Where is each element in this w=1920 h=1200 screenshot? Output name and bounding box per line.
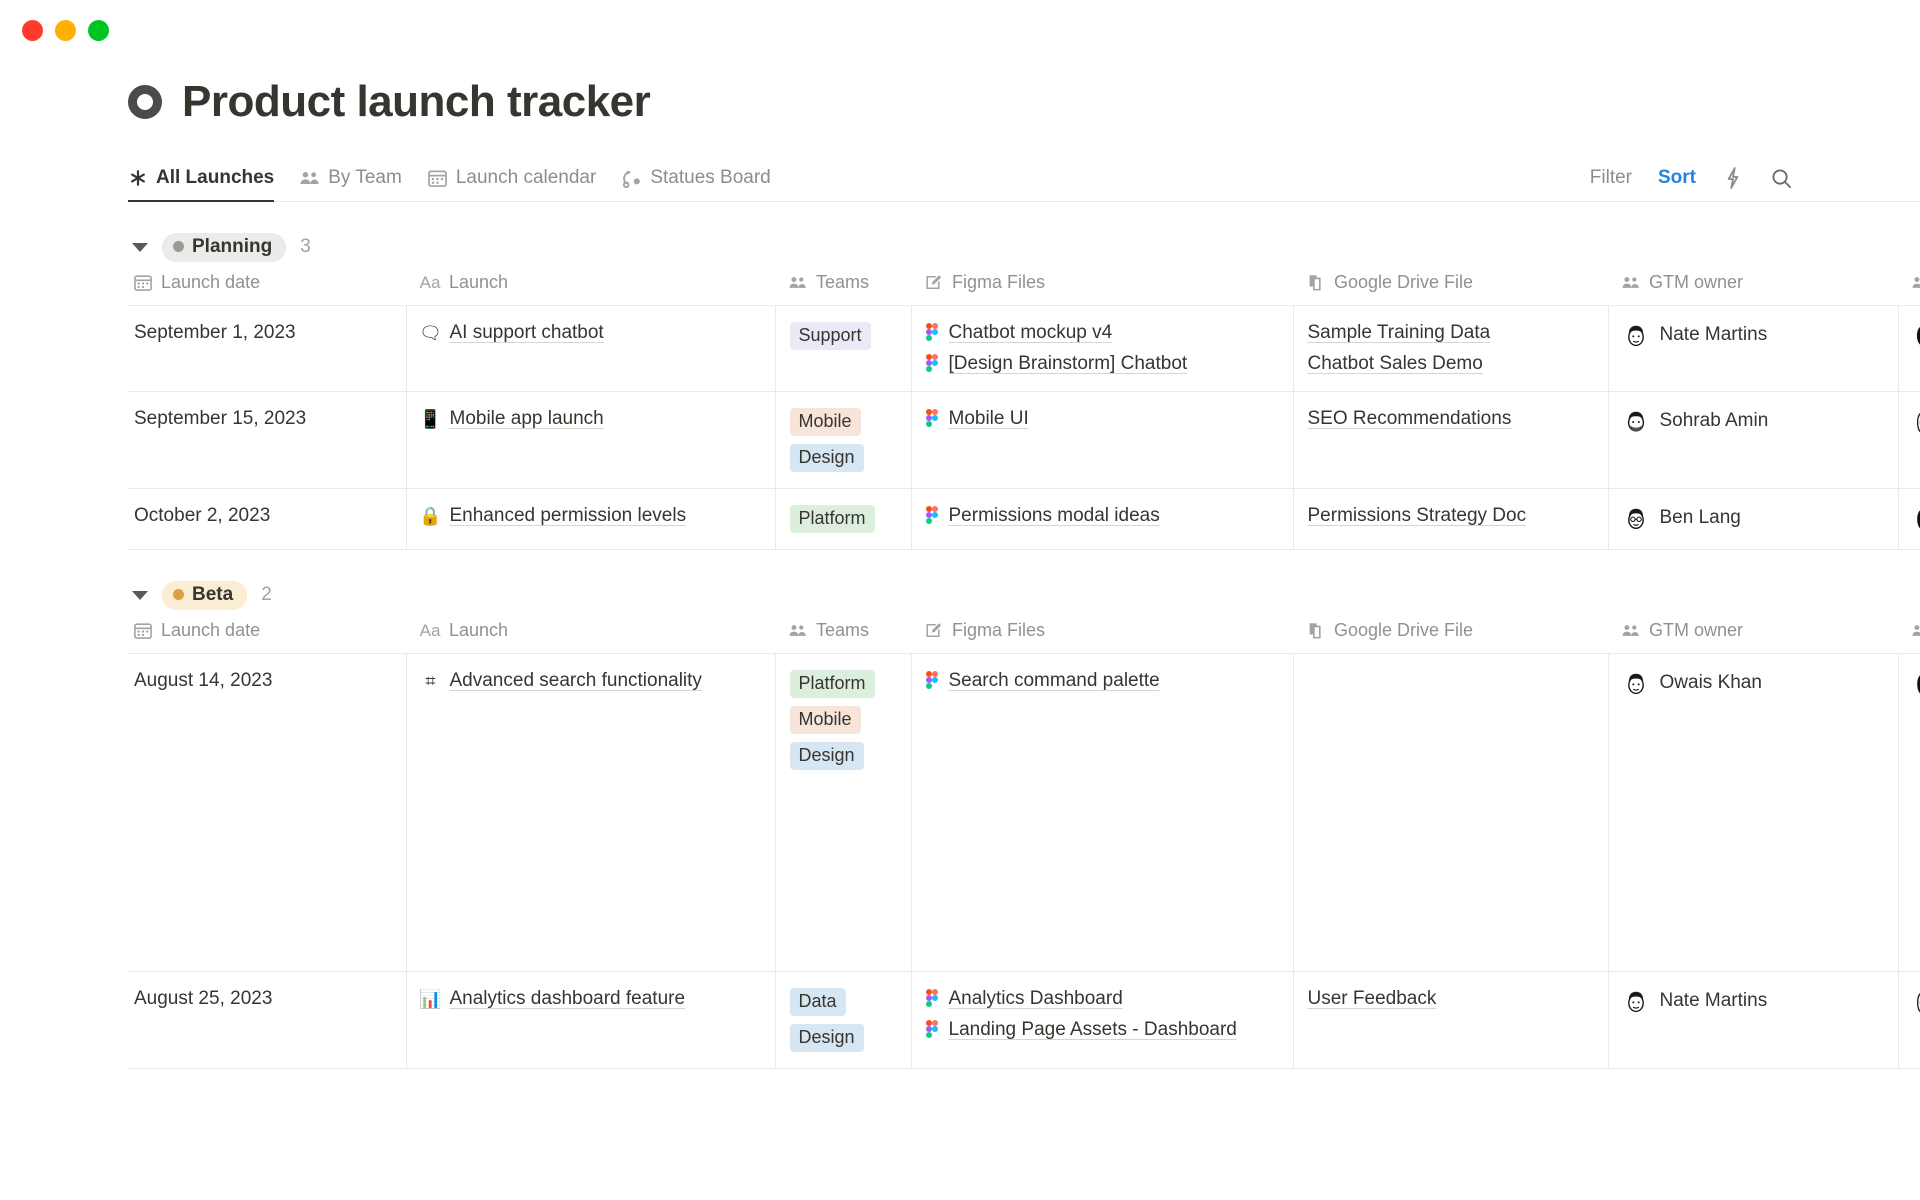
tab-label: All Launches (156, 167, 274, 189)
launch-table: Launch date AaLaunch Teams Figma Files G… (128, 612, 1920, 1069)
figma-file-name: Search command palette (949, 670, 1160, 692)
tab-launch-calendar[interactable]: Launch calendar (428, 167, 597, 201)
cell-teams[interactable]: MobileDesign (775, 392, 911, 489)
cell-extra-person[interactable] (1898, 654, 1920, 972)
table-header-row: Launch date AaLaunch Teams Figma Files G… (128, 264, 1920, 306)
cell-gtm-owner[interactable]: Nate Martins (1608, 972, 1898, 1069)
cell-figma-files[interactable]: Chatbot mockup v4 [Design Brainstorm] Ch… (911, 306, 1293, 392)
figma-file-name: Permissions modal ideas (949, 505, 1160, 527)
cell-teams[interactable]: DataDesign (775, 972, 911, 1069)
launch-emoji-icon: 📱 (421, 410, 441, 428)
table-row[interactable]: August 14, 2023 ⌗ Advanced search functi… (128, 654, 1920, 972)
avatar (1623, 505, 1649, 531)
person-chip[interactable] (1913, 988, 1920, 1014)
filter-button[interactable]: Filter (1590, 167, 1632, 189)
calendar-icon (428, 168, 448, 188)
status-badge[interactable]: Planning (162, 233, 286, 262)
launch-link[interactable]: 🔒 Enhanced permission levels (421, 505, 687, 527)
avatar (1913, 408, 1920, 434)
person-chip[interactable]: Nate Martins (1623, 988, 1884, 1014)
group-planning: Planning 3 Launch date AaLaunch Teams Fi… (128, 230, 1920, 550)
team-tag[interactable]: Platform (790, 670, 875, 698)
avatar (1623, 988, 1649, 1014)
launch-emoji-icon: 🔒 (421, 507, 441, 525)
tab-label: By Team (328, 167, 402, 189)
column-header-launch[interactable]: AaLaunch (406, 264, 775, 306)
figma-file-link[interactable]: Analytics Dashboard (926, 988, 1279, 1010)
person-chip[interactable] (1913, 670, 1920, 696)
team-tag[interactable]: Data (790, 988, 846, 1016)
people-icon (1622, 622, 1640, 639)
cell-google-drive-file[interactable]: SEO Recommendations (1293, 392, 1608, 489)
table-row[interactable]: October 2, 2023 🔒 Enhanced permission le… (128, 489, 1920, 550)
launch-title: AI support chatbot (450, 322, 604, 344)
column-header-label: Figma Files (952, 620, 1045, 641)
cell-figma-files[interactable]: Search command palette (911, 654, 1293, 972)
cell-extra-person[interactable] (1898, 306, 1920, 392)
record-circle-icon (128, 85, 162, 119)
people-icon (1622, 274, 1640, 291)
launch-date-value: August 25, 2023 (134, 988, 272, 1009)
collapse-caret-icon[interactable] (132, 591, 148, 600)
column-header-label: Teams (816, 272, 869, 293)
tab-label: Launch calendar (456, 167, 597, 189)
drive-file-link[interactable]: Permissions Strategy Doc (1308, 505, 1594, 527)
column-header-label: Teams (816, 620, 869, 641)
cell-launch-date[interactable]: August 14, 2023 (128, 654, 406, 972)
avatar (1623, 670, 1649, 696)
edit-square-icon (925, 622, 943, 639)
avatar (1913, 988, 1920, 1014)
group-beta: Beta 2 Launch date AaLaunch Teams Figma … (128, 578, 1920, 1069)
gtm-owner-name: Ben Lang (1660, 507, 1741, 529)
group-header[interactable]: Planning 3 (128, 230, 1920, 264)
column-header-figma-files[interactable]: Figma Files (911, 612, 1293, 654)
figma-icon (926, 323, 940, 343)
cell-extra-person[interactable] (1898, 392, 1920, 489)
table-row[interactable]: August 25, 2023 📊 Analytics dashboard fe… (128, 972, 1920, 1069)
column-header-label: Launch date (161, 620, 260, 641)
column-header-google-drive-file[interactable]: Google Drive File (1293, 612, 1608, 654)
figma-file-name: Mobile UI (949, 408, 1029, 430)
cell-figma-files[interactable]: Analytics Dashboard Landing Page Assets … (911, 972, 1293, 1069)
figma-icon (926, 354, 940, 374)
column-header-label: Google Drive File (1334, 620, 1473, 641)
launch-title: Mobile app launch (450, 408, 604, 430)
cell-gtm-owner[interactable]: Nate Martins (1608, 306, 1898, 392)
figma-icon (926, 506, 940, 526)
avatar (1623, 408, 1649, 434)
page-body: Product launch tracker All Launches (0, 78, 1920, 1069)
figma-file-name: Landing Page Assets - Dashboard (949, 1019, 1237, 1041)
figma-icon (926, 1020, 940, 1040)
avatar (1913, 505, 1920, 531)
launch-emoji-icon: ⌗ (421, 672, 441, 690)
status-badge-label: Beta (192, 584, 233, 606)
launch-title: Analytics dashboard feature (450, 988, 686, 1010)
status-badge[interactable]: Beta (162, 581, 247, 610)
people-icon (789, 622, 807, 639)
column-header-p[interactable]: P (1898, 264, 1920, 306)
team-tag[interactable]: Design (790, 444, 864, 472)
column-header-label: Figma Files (952, 272, 1045, 293)
launch-title: Enhanced permission levels (450, 505, 687, 527)
column-header-label: GTM owner (1649, 272, 1743, 293)
launch-title: Advanced search functionality (450, 670, 702, 692)
column-header-launch[interactable]: AaLaunch (406, 612, 775, 654)
column-header-google-drive-file[interactable]: Google Drive File (1293, 264, 1608, 306)
person-chip[interactable] (1913, 408, 1920, 434)
cell-teams[interactable]: PlatformMobileDesign (775, 654, 911, 972)
window-maximize-button[interactable] (88, 20, 109, 41)
people-icon (1912, 274, 1920, 291)
column-header-figma-files[interactable]: Figma Files (911, 264, 1293, 306)
team-tag[interactable]: Design (790, 1024, 864, 1052)
cell-figma-files[interactable]: Mobile UI (911, 392, 1293, 489)
avatar (1623, 322, 1649, 348)
gtm-owner-name: Nate Martins (1660, 324, 1768, 346)
page-header: Product launch tracker (128, 78, 1920, 126)
figma-file-name: Analytics Dashboard (949, 988, 1123, 1010)
figma-file-link[interactable]: Mobile UI (926, 408, 1279, 430)
lightning-icon[interactable] (1722, 167, 1744, 189)
edit-square-icon (925, 274, 943, 291)
text-aa-icon: Aa (420, 621, 440, 641)
avatar (1913, 670, 1920, 696)
groups-container: Planning 3 Launch date AaLaunch Teams Fi… (128, 230, 1920, 1069)
cell-gtm-owner[interactable]: Sohrab Amin (1608, 392, 1898, 489)
person-chip[interactable]: Owais Khan (1623, 670, 1884, 696)
figma-file-link[interactable]: Search command palette (926, 670, 1279, 692)
asterisk-icon (128, 168, 148, 188)
gtm-owner-name: Nate Martins (1660, 990, 1768, 1012)
window-titlebar (0, 0, 1920, 60)
column-header-p[interactable]: P (1898, 612, 1920, 654)
cell-google-drive-file[interactable]: Permissions Strategy Doc (1293, 489, 1608, 550)
column-header-launch-date[interactable]: Launch date (128, 264, 406, 306)
person-chip[interactable] (1913, 322, 1920, 348)
cell-google-drive-file[interactable]: User Feedback (1293, 972, 1608, 1069)
cell-launch[interactable]: 🗨 AI support chatbot (406, 306, 775, 392)
launch-link[interactable]: 📱 Mobile app launch (421, 408, 604, 430)
drive-file-link[interactable]: SEO Recommendations (1308, 408, 1594, 430)
tab-by-team[interactable]: By Team (300, 167, 402, 201)
cell-launch-date[interactable]: August 25, 2023 (128, 972, 406, 1069)
team-tag[interactable]: Mobile (790, 408, 861, 436)
gtm-owner-name: Owais Khan (1660, 672, 1762, 694)
figma-icon (926, 989, 940, 1009)
status-badge-label: Planning (192, 236, 272, 258)
launch-table: Launch date AaLaunch Teams Figma Files G… (128, 264, 1920, 550)
text-aa-icon: Aa (420, 273, 440, 293)
launch-link[interactable]: 🗨 AI support chatbot (421, 322, 604, 344)
status-dot-icon (173, 241, 184, 252)
launch-date-value: October 2, 2023 (134, 505, 270, 526)
cell-gtm-owner[interactable]: Owais Khan (1608, 654, 1898, 972)
cell-launch[interactable]: 📱 Mobile app launch (406, 392, 775, 489)
window-minimize-button[interactable] (55, 20, 76, 41)
cell-extra-person[interactable] (1898, 972, 1920, 1069)
launch-date-value: September 15, 2023 (134, 408, 306, 429)
column-header-label: GTM owner (1649, 620, 1743, 641)
tab-label: Statues Board (650, 167, 770, 189)
group-header[interactable]: Beta 2 (128, 578, 1920, 612)
search-icon[interactable] (1770, 167, 1792, 189)
launch-emoji-icon: 📊 (421, 990, 441, 1008)
view-toolbar: Filter Sort (1590, 167, 1792, 201)
cell-teams[interactable]: Platform (775, 489, 911, 550)
cell-extra-person[interactable] (1898, 489, 1920, 550)
cell-figma-files[interactable]: Permissions modal ideas (911, 489, 1293, 550)
column-header-label: Google Drive File (1334, 272, 1473, 293)
team-tag[interactable]: Platform (790, 505, 875, 533)
board-icon (622, 168, 642, 188)
view-tabbar: All Launches By Team (128, 156, 1920, 202)
launch-emoji-icon: 🗨 (421, 324, 441, 342)
cell-teams[interactable]: Support (775, 306, 911, 392)
cell-launch-date[interactable]: September 15, 2023 (128, 392, 406, 489)
window-close-button[interactable] (22, 20, 43, 41)
person-chip[interactable]: Ben Lang (1623, 505, 1884, 531)
sort-button[interactable]: Sort (1658, 167, 1696, 189)
figma-file-link[interactable]: Landing Page Assets - Dashboard (926, 1019, 1279, 1041)
collapse-caret-icon[interactable] (132, 243, 148, 252)
drive-file-link[interactable]: Sample Training Data (1308, 322, 1594, 344)
cell-launch[interactable]: 📊 Analytics dashboard feature (406, 972, 775, 1069)
person-chip[interactable]: Nate Martins (1623, 322, 1884, 348)
launch-date-value: August 14, 2023 (134, 670, 272, 691)
column-header-label: Launch date (161, 272, 260, 293)
tab-statues-board[interactable]: Statues Board (622, 167, 770, 201)
column-header-label: Launch (449, 620, 508, 641)
column-header-gtm-owner[interactable]: GTM owner (1608, 612, 1898, 654)
person-chip[interactable] (1913, 505, 1920, 531)
launch-link[interactable]: ⌗ Advanced search functionality (421, 670, 702, 692)
drive-file-link[interactable]: User Feedback (1308, 988, 1594, 1010)
cell-gtm-owner[interactable]: Ben Lang (1608, 489, 1898, 550)
launch-date-value: September 1, 2023 (134, 322, 296, 343)
column-header-teams[interactable]: Teams (775, 264, 911, 306)
view-tabs: All Launches By Team (128, 167, 1590, 201)
people-icon (300, 168, 320, 188)
tab-all-launches[interactable]: All Launches (128, 167, 274, 201)
page-title: Product launch tracker (182, 78, 650, 126)
figma-file-name: [Design Brainstorm] Chatbot (949, 353, 1188, 375)
figma-icon (926, 671, 940, 691)
cell-google-drive-file[interactable]: Sample Training DataChatbot Sales Demo (1293, 306, 1608, 392)
calendar-icon (134, 622, 152, 639)
figma-file-link[interactable]: [Design Brainstorm] Chatbot (926, 353, 1279, 375)
group-count: 2 (261, 584, 272, 606)
file-copy-icon (1307, 274, 1325, 291)
cell-launch-date[interactable]: October 2, 2023 (128, 489, 406, 550)
cell-google-drive-file[interactable] (1293, 654, 1608, 972)
column-header-gtm-owner[interactable]: GTM owner (1608, 264, 1898, 306)
launch-link[interactable]: 📊 Analytics dashboard feature (421, 988, 686, 1010)
calendar-icon (134, 274, 152, 291)
group-count: 3 (300, 236, 311, 258)
cell-launch[interactable]: ⌗ Advanced search functionality (406, 654, 775, 972)
people-icon (1912, 622, 1920, 639)
gtm-owner-name: Sohrab Amin (1660, 410, 1769, 432)
figma-file-link[interactable]: Chatbot mockup v4 (926, 322, 1279, 344)
table-row[interactable]: September 15, 2023 📱 Mobile app launchMo… (128, 392, 1920, 489)
team-tag[interactable]: Support (790, 322, 871, 350)
column-header-label: Launch (449, 272, 508, 293)
file-copy-icon (1307, 622, 1325, 639)
drive-file-link[interactable]: Chatbot Sales Demo (1308, 353, 1594, 375)
cell-launch-date[interactable]: September 1, 2023 (128, 306, 406, 392)
figma-file-link[interactable]: Permissions modal ideas (926, 505, 1279, 527)
people-icon (789, 274, 807, 291)
team-tag[interactable]: Design (790, 742, 864, 770)
cell-launch[interactable]: 🔒 Enhanced permission levels (406, 489, 775, 550)
table-header-row: Launch date AaLaunch Teams Figma Files G… (128, 612, 1920, 654)
column-header-launch-date[interactable]: Launch date (128, 612, 406, 654)
team-tag[interactable]: Mobile (790, 706, 861, 734)
figma-icon (926, 409, 940, 429)
status-dot-icon (173, 589, 184, 600)
person-chip[interactable]: Sohrab Amin (1623, 408, 1884, 434)
avatar (1913, 322, 1920, 348)
figma-file-name: Chatbot mockup v4 (949, 322, 1113, 344)
table-row[interactable]: September 1, 2023 🗨 AI support chatbotSu… (128, 306, 1920, 392)
column-header-teams[interactable]: Teams (775, 612, 911, 654)
